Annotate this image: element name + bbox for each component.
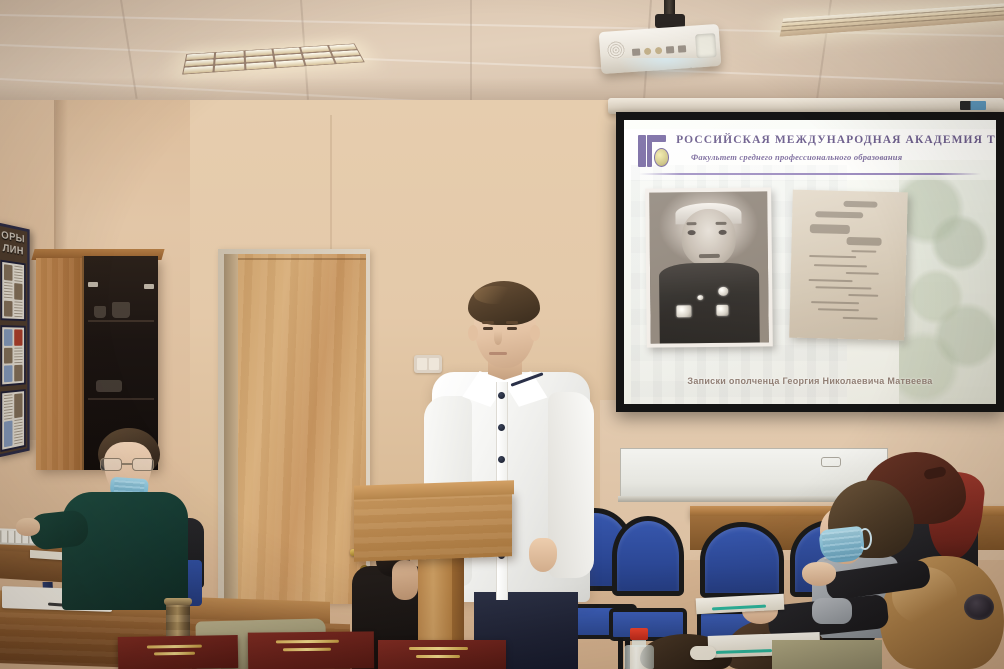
memorial-book xyxy=(118,635,239,669)
suspended-ceiling xyxy=(0,0,1004,108)
classroom-door[interactable] xyxy=(238,254,366,604)
handwritten-notebook-photo xyxy=(790,190,909,340)
door-top-edge xyxy=(238,258,366,260)
slide-background-trees xyxy=(899,160,996,404)
rmat-logo-icon xyxy=(637,133,670,170)
shirt-button xyxy=(498,456,505,463)
teacher-hand xyxy=(16,518,40,536)
projection-screen: РОССИЙСКАЯ МЕЖДУНАРОДНАЯ АКАДЕМИЯ ТУРИЗМ… xyxy=(616,112,1004,412)
eraser[interactable] xyxy=(690,646,716,660)
mask-ear-loop xyxy=(858,528,872,550)
teacher-green-top xyxy=(62,492,188,610)
projector-lens xyxy=(695,33,717,58)
shirt-button xyxy=(498,424,505,431)
eyeglasses xyxy=(100,458,156,471)
door-jamb xyxy=(224,254,238,604)
seated-person-arm xyxy=(392,560,418,600)
rmat-logo-globe xyxy=(654,148,669,167)
slide-caption: Записки ополченца Георгия Николаевича Ма… xyxy=(624,376,996,386)
slide-institution-title: РОССИЙСКАЯ МЕЖДУНАРОДНАЯ АКАДЕМИЯ ТУРИЗМ… xyxy=(676,134,992,146)
cabinet-item-small xyxy=(94,306,106,318)
bulletin-sheet xyxy=(0,389,25,452)
audience-sleeve xyxy=(812,598,852,624)
wall-outlet[interactable] xyxy=(414,355,442,373)
whiteboard-clip xyxy=(821,457,841,467)
shirt-button xyxy=(498,392,505,399)
cabinet-side-panel xyxy=(36,258,82,470)
classroom-scene: ОРЫ ЛИН xyxy=(0,0,1004,669)
portrait-medal xyxy=(717,305,729,316)
cabinet-item-cup xyxy=(112,302,130,318)
projector-ports xyxy=(632,42,695,58)
presenter-right-hand xyxy=(529,538,557,572)
projection-screen-surface: РОССИЙСКАЯ МЕЖДУНАРОДНАЯ АКАДЕМИЯ ТУРИЗМ… xyxy=(624,120,996,404)
portrait-uniform xyxy=(660,263,760,344)
water-bottle[interactable] xyxy=(624,645,654,669)
audience-hand xyxy=(802,562,836,586)
water-bottle-neck xyxy=(632,639,646,647)
wall-bulletin-board: ОРЫ ЛИН xyxy=(0,222,30,458)
veteran-portrait-image xyxy=(650,192,770,344)
ceiling-light-panel-right xyxy=(780,3,1004,36)
cabinet-hinge xyxy=(88,282,98,287)
bulletin-sheet xyxy=(0,325,25,386)
wooden-podium xyxy=(354,490,512,562)
portrait-face xyxy=(682,208,737,266)
projector-beam-glow xyxy=(618,58,714,80)
projector-vent xyxy=(606,40,625,59)
veteran-portrait-photo xyxy=(645,187,773,347)
memorial-book xyxy=(378,640,506,669)
classroom-door-frame xyxy=(218,249,370,604)
ceiling-light-panel-left xyxy=(182,43,365,74)
cabinet-item-box xyxy=(96,380,122,392)
water-bottle-cap[interactable] xyxy=(630,628,648,640)
presentation-slide: РОССИЙСКАЯ МЕЖДУНАРОДНАЯ АКАДЕМИЯ ТУРИЗМ… xyxy=(624,120,996,404)
display-cloth xyxy=(772,640,882,669)
projection-screen-end-cap xyxy=(960,101,986,110)
bulletin-sheet xyxy=(0,260,25,322)
slide-header-divider xyxy=(639,173,981,175)
shell-casing-rim xyxy=(164,598,192,605)
memorial-book xyxy=(248,631,374,669)
slide-faculty-subtitle: Факультет среднего профессионального обр… xyxy=(691,152,996,162)
cabinet-hinge xyxy=(144,284,154,289)
hair-clip xyxy=(964,594,994,620)
portrait-medal xyxy=(677,306,693,318)
